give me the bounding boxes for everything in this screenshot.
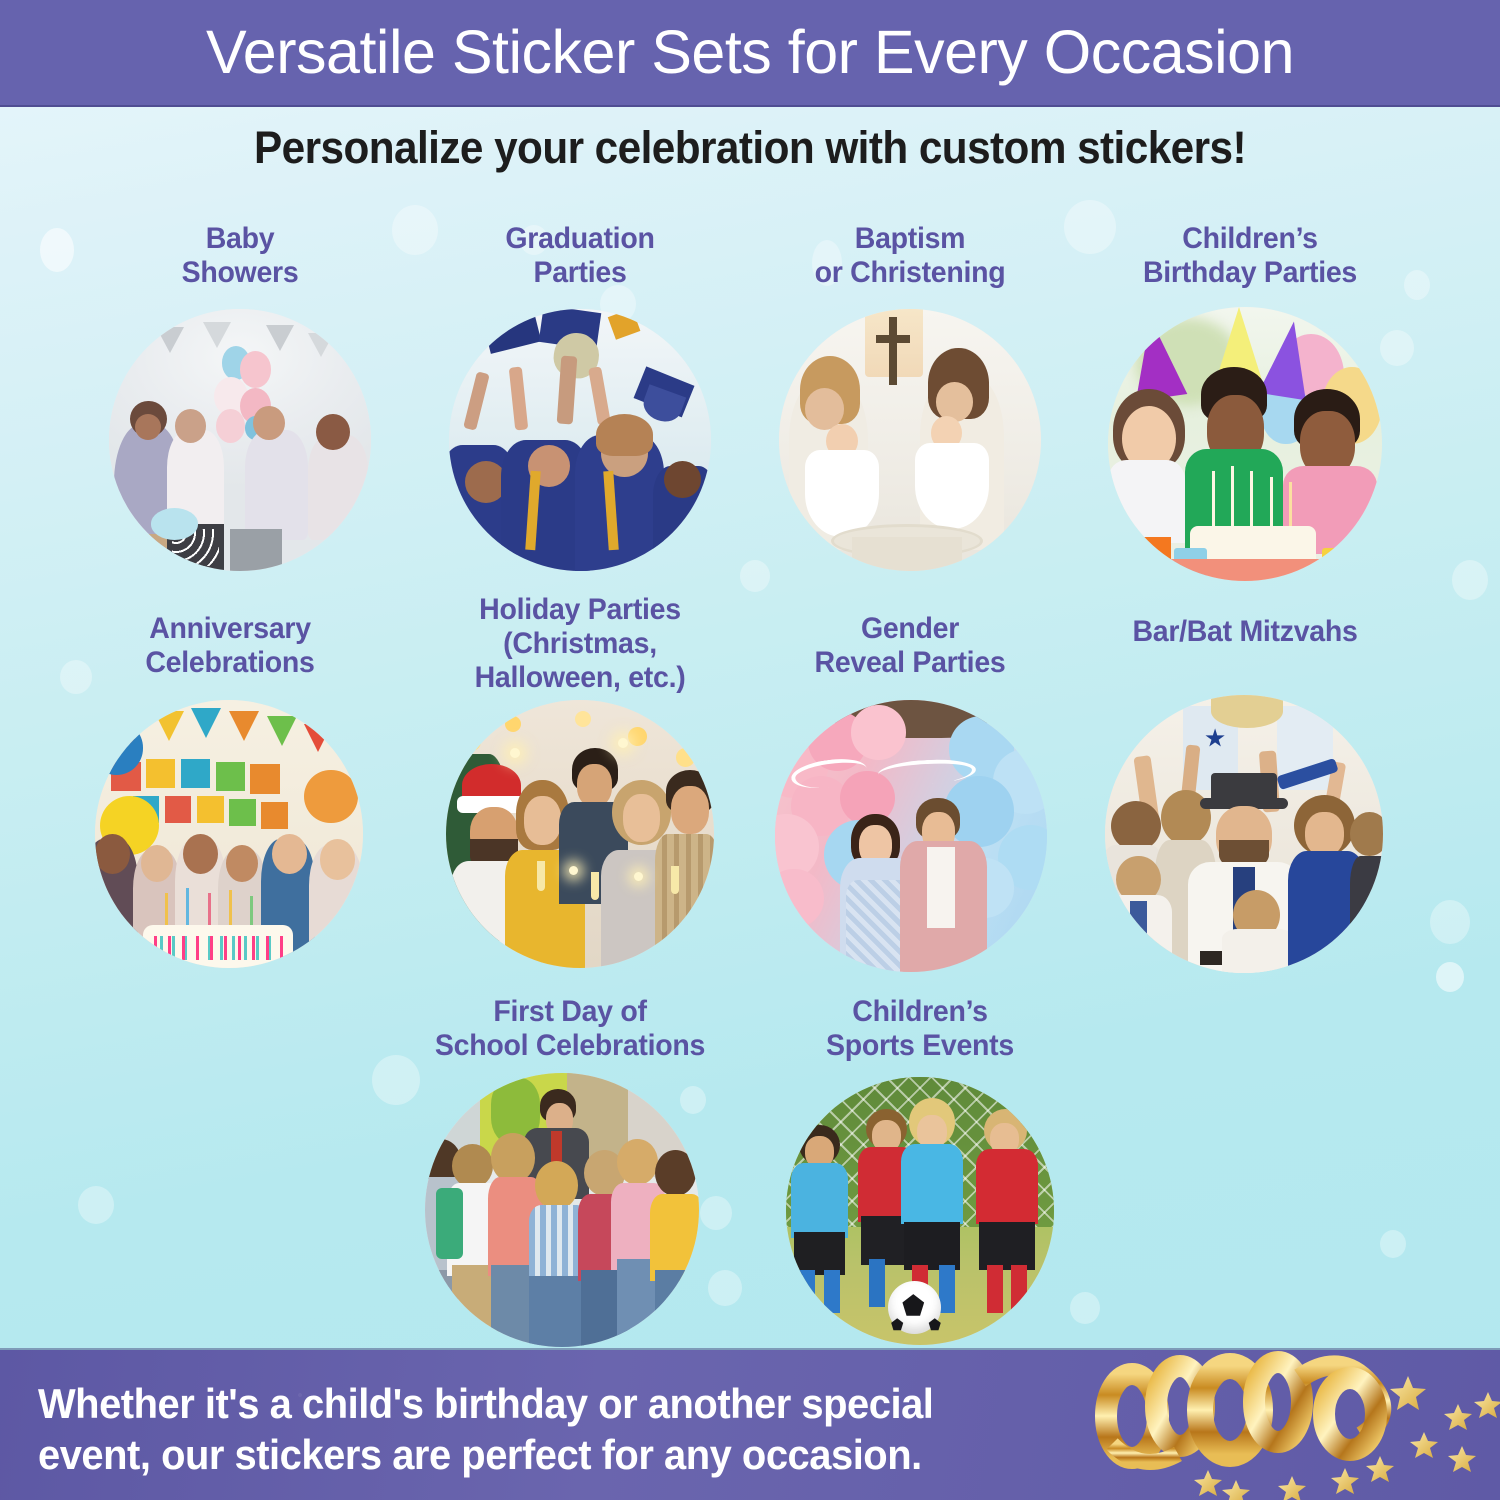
- background-bubble: [1070, 1292, 1100, 1324]
- occasion-label-line: (Christmas,: [438, 627, 723, 661]
- background-bubble: [740, 560, 770, 592]
- occasion-cell-baby-showers: Baby Showers: [100, 222, 380, 582]
- background-bubble: [1436, 962, 1464, 992]
- bar-bat-mitzvah-photo: [1105, 695, 1383, 973]
- occasion-label-line: First Day of: [428, 995, 713, 1029]
- occasion-cell-childrens-sports: Children’s Sports Events: [785, 995, 1055, 1365]
- infographic-page: Versatile Sticker Sets for Every Occasio…: [0, 0, 1500, 1500]
- background-bubble: [60, 660, 92, 694]
- occasion-cell-holiday-parties: Holiday Parties (Christmas, Halloween, e…: [430, 593, 730, 993]
- occasion-label: Anniversary Celebrations: [97, 612, 363, 680]
- occasion-label-line: Birthday Parties: [1108, 256, 1393, 290]
- background-bubble: [392, 205, 438, 255]
- occasion-label-line: Gender: [772, 612, 1048, 646]
- occasion-label-line: Showers: [107, 256, 373, 290]
- occasion-label-line: Baptism: [777, 222, 1043, 256]
- anniversary-photo: [95, 700, 363, 968]
- occasion-label-line: Celebrations: [97, 646, 363, 680]
- background-bubble: [372, 1055, 420, 1105]
- background-bubble: [1452, 560, 1488, 600]
- occasion-label: Bar/Bat Mitzvahs: [1103, 615, 1388, 649]
- first-day-school-photo: [425, 1073, 699, 1347]
- childrens-birthday-photo: [1108, 307, 1382, 581]
- occasion-label: Gender Reveal Parties: [772, 612, 1048, 680]
- baptism-photo: [779, 309, 1041, 571]
- occasion-label-line: Baby: [107, 222, 373, 256]
- graduation-photo: [449, 309, 711, 571]
- occasion-cell-bar-bat-mitzvahs: Bar/Bat Mitzvahs: [1095, 615, 1395, 995]
- occasion-label: Baby Showers: [107, 222, 373, 290]
- background-bubble: [1404, 270, 1430, 300]
- occasion-cell-gender-reveal: Gender Reveal Parties: [765, 612, 1055, 992]
- gold-ribbon-icon: [1050, 1348, 1500, 1500]
- occasion-label-line: Reveal Parties: [772, 646, 1048, 680]
- occasion-label-line: Parties: [447, 256, 713, 290]
- occasion-label: Graduation Parties: [447, 222, 713, 290]
- occasion-label: Children’s Sports Events: [792, 995, 1049, 1063]
- footer-text-line: Whether it's a child's birthday or anoth…: [38, 1378, 1017, 1429]
- occasion-cell-baptism: Baptism or Christening: [770, 222, 1050, 582]
- subtitle: Personalize your celebration with custom…: [45, 122, 1455, 174]
- occasion-label-line: Halloween, etc.): [438, 661, 723, 695]
- occasion-label: First Day of School Celebrations: [428, 995, 713, 1063]
- gender-reveal-photo: [775, 700, 1047, 972]
- occasion-label-line: Anniversary: [97, 612, 363, 646]
- occasion-label-line: Bar/Bat Mitzvahs: [1103, 615, 1388, 649]
- header-band: Versatile Sticker Sets for Every Occasio…: [0, 0, 1500, 107]
- page-title: Versatile Sticker Sets for Every Occasio…: [206, 22, 1294, 83]
- background-bubble: [40, 228, 74, 272]
- occasion-cell-anniversary: Anniversary Celebrations: [90, 612, 370, 992]
- occasion-label-line: Holiday Parties: [438, 593, 723, 627]
- occasion-label-line: School Celebrations: [428, 1029, 713, 1063]
- footer-band: Whether it's a child's birthday or anoth…: [0, 1348, 1500, 1500]
- occasion-cell-childrens-birthday: Children’s Birthday Parties: [1100, 222, 1400, 592]
- occasion-label-line: Graduation: [447, 222, 713, 256]
- occasion-cell-graduation: Graduation Parties: [440, 222, 720, 582]
- occasion-label: Holiday Parties (Christmas, Halloween, e…: [438, 593, 723, 695]
- background-bubble: [1430, 900, 1470, 944]
- background-bubble: [1380, 1230, 1406, 1258]
- occasion-label-line: Sports Events: [792, 1029, 1049, 1063]
- occasion-label: Children’s Birthday Parties: [1108, 222, 1393, 290]
- background-bubble: [78, 1186, 114, 1224]
- footer-text-line: event, our stickers are perfect for any …: [38, 1429, 1017, 1480]
- occasion-label-line: Children’s: [792, 995, 1049, 1029]
- holiday-party-photo: [446, 700, 714, 968]
- childrens-sports-photo: [786, 1077, 1054, 1345]
- occasion-label-line: Children’s: [1108, 222, 1393, 256]
- occasion-label: Baptism or Christening: [777, 222, 1043, 290]
- footer-text: Whether it's a child's birthday or anoth…: [38, 1378, 1017, 1480]
- occasion-label-line: or Christening: [777, 256, 1043, 290]
- baby-shower-photo: [109, 309, 371, 571]
- occasion-cell-first-day-school: First Day of School Celebrations: [420, 995, 720, 1365]
